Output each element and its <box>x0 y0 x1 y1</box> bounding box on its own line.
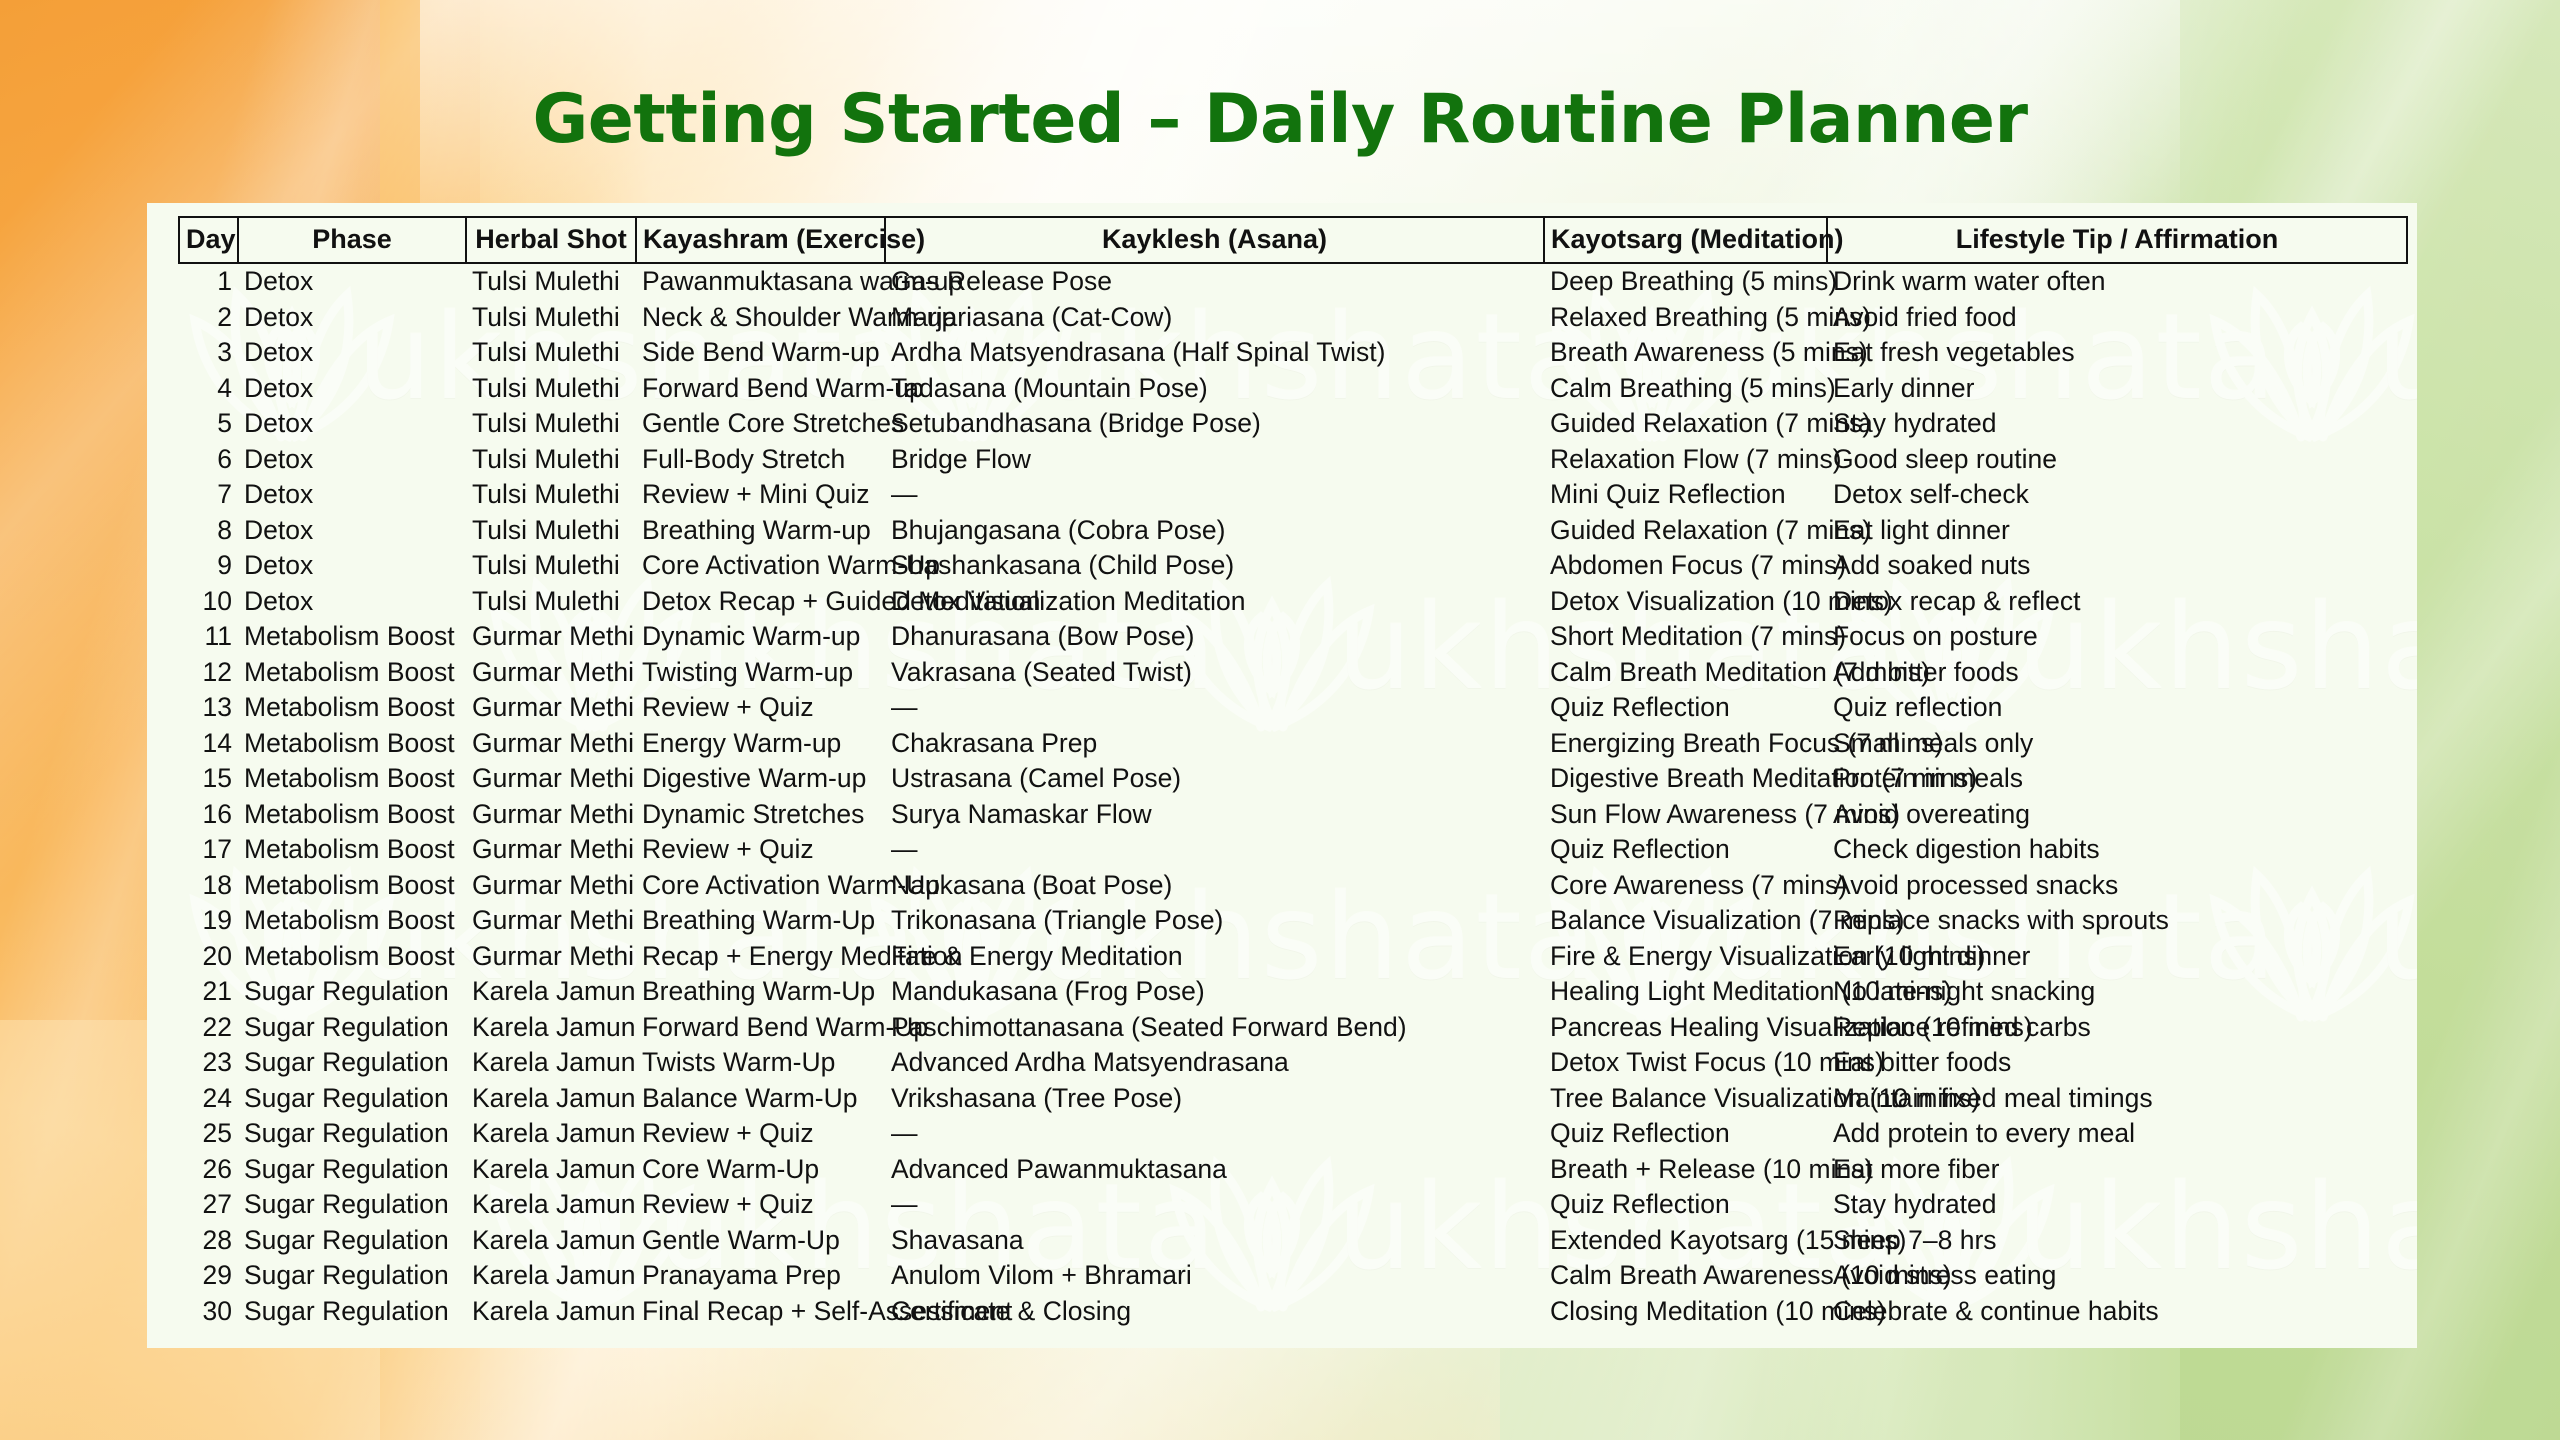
table-row: 8DetoxTulsi MulethiBreathing Warm-upBhuj… <box>179 513 2407 549</box>
cell-kayotsarg: Detox Twist Focus (10 mins) <box>1544 1045 1827 1081</box>
cell-kayashram: Balance Warm-Up <box>636 1081 885 1117</box>
cell-phase: Sugar Regulation <box>238 1223 466 1259</box>
cell-kayklesh: Detox Visualization Meditation <box>885 584 1544 620</box>
cell-kayklesh: Shavasana <box>885 1223 1544 1259</box>
cell-herbal-shot: Gurmar Methi <box>466 832 636 868</box>
cell-kayotsarg: Breath Awareness (5 mins) <box>1544 335 1827 371</box>
table-row: 3DetoxTulsi MulethiSide Bend Warm-upArdh… <box>179 335 2407 371</box>
cell-herbal-shot: Gurmar Methi <box>466 761 636 797</box>
table-row: 25Sugar RegulationKarela JamunReview + Q… <box>179 1116 2407 1152</box>
cell-lifestyle-tip: No late-night snacking <box>1827 974 2407 1010</box>
cell-kayotsarg: Core Awareness (7 mins) <box>1544 868 1827 904</box>
cell-day: 3 <box>179 335 238 371</box>
cell-day: 18 <box>179 868 238 904</box>
table-row: 4DetoxTulsi MulethiForward Bend Warm-upT… <box>179 371 2407 407</box>
slide-canvas: Getting Started – Daily Routine Planner … <box>0 0 2560 1440</box>
cell-kayklesh: Ustrasana (Camel Pose) <box>885 761 1544 797</box>
cell-herbal-shot: Gurmar Methi <box>466 868 636 904</box>
cell-day: 21 <box>179 974 238 1010</box>
cell-lifestyle-tip: Protein in meals <box>1827 761 2407 797</box>
cell-phase: Sugar Regulation <box>238 1010 466 1046</box>
cell-kayashram: Final Recap + Self-Assessment <box>636 1294 885 1330</box>
cell-phase: Detox <box>238 513 466 549</box>
cell-phase: Detox <box>238 406 466 442</box>
cell-herbal-shot: Tulsi Mulethi <box>466 513 636 549</box>
table-row: 22Sugar RegulationKarela JamunForward Be… <box>179 1010 2407 1046</box>
cell-kayashram: Neck & Shoulder Warm-up <box>636 300 885 336</box>
cell-phase: Detox <box>238 263 466 300</box>
cell-kayklesh: Paschimottanasana (Seated Forward Bend) <box>885 1010 1544 1046</box>
table-row: 12Metabolism BoostGurmar MethiTwisting W… <box>179 655 2407 691</box>
cell-kayotsarg: Detox Visualization (10 mins) <box>1544 584 1827 620</box>
cell-kayotsarg: Quiz Reflection <box>1544 1187 1827 1223</box>
cell-herbal-shot: Gurmar Methi <box>466 797 636 833</box>
cell-phase: Detox <box>238 548 466 584</box>
cell-phase: Metabolism Boost <box>238 797 466 833</box>
cell-kayashram: Breathing Warm-Up <box>636 903 885 939</box>
table-row: 11Metabolism BoostGurmar MethiDynamic Wa… <box>179 619 2407 655</box>
cell-day: 2 <box>179 300 238 336</box>
cell-day: 28 <box>179 1223 238 1259</box>
cell-phase: Metabolism Boost <box>238 939 466 975</box>
cell-kayashram: Core Warm-Up <box>636 1152 885 1188</box>
cell-kayotsarg: Short Meditation (7 mins) <box>1544 619 1827 655</box>
cell-kayklesh: Surya Namaskar Flow <box>885 797 1544 833</box>
cell-kayklesh: Naukasana (Boat Pose) <box>885 868 1544 904</box>
column-header-kayashram: Kayashram (Exercise) <box>636 217 885 263</box>
table-row: 16Metabolism BoostGurmar MethiDynamic St… <box>179 797 2407 833</box>
cell-kayashram: Forward Bend Warm-Up <box>636 1010 885 1046</box>
daily-routine-table: Day Phase Herbal Shot Kayashram (Exercis… <box>178 216 2408 1329</box>
cell-kayklesh: Marjariasana (Cat-Cow) <box>885 300 1544 336</box>
cell-kayotsarg: Guided Relaxation (7 mins) <box>1544 406 1827 442</box>
cell-phase: Metabolism Boost <box>238 690 466 726</box>
cell-phase: Metabolism Boost <box>238 655 466 691</box>
cell-herbal-shot: Tulsi Mulethi <box>466 371 636 407</box>
cell-herbal-shot: Gurmar Methi <box>466 939 636 975</box>
column-header-kayklesh: Kayklesh (Asana) <box>885 217 1544 263</box>
table-body: 1DetoxTulsi MulethiPawanmuktasana warm-u… <box>179 263 2407 1329</box>
cell-kayashram: Side Bend Warm-up <box>636 335 885 371</box>
cell-phase: Detox <box>238 300 466 336</box>
cell-kayklesh: Setubandhasana (Bridge Pose) <box>885 406 1544 442</box>
cell-phase: Detox <box>238 335 466 371</box>
cell-kayklesh: — <box>885 832 1544 868</box>
cell-herbal-shot: Gurmar Methi <box>466 655 636 691</box>
column-header-kayotsarg: Kayotsarg (Meditation) <box>1544 217 1827 263</box>
cell-kayotsarg: Pancreas Healing Visualization (10 mins) <box>1544 1010 1827 1046</box>
cell-kayotsarg: Healing Light Meditation (10 mins) <box>1544 974 1827 1010</box>
cell-day: 8 <box>179 513 238 549</box>
cell-herbal-shot: Tulsi Mulethi <box>466 335 636 371</box>
cell-kayashram: Twists Warm-Up <box>636 1045 885 1081</box>
cell-kayotsarg: Quiz Reflection <box>1544 690 1827 726</box>
cell-lifestyle-tip: Eat bitter foods <box>1827 1045 2407 1081</box>
cell-herbal-shot: Karela Jamun <box>466 1258 636 1294</box>
cell-kayashram: Core Activation Warm-Up <box>636 548 885 584</box>
cell-herbal-shot: Tulsi Mulethi <box>466 477 636 513</box>
cell-kayklesh: Gas Release Pose <box>885 263 1544 300</box>
cell-phase: Metabolism Boost <box>238 868 466 904</box>
page-title: Getting Started – Daily Routine Planner <box>0 86 2560 154</box>
cell-kayotsarg: Abdomen Focus (7 mins) <box>1544 548 1827 584</box>
cell-lifestyle-tip: Replace refined carbs <box>1827 1010 2407 1046</box>
cell-phase: Detox <box>238 477 466 513</box>
cell-lifestyle-tip: Add protein to every meal <box>1827 1116 2407 1152</box>
cell-day: 25 <box>179 1116 238 1152</box>
cell-kayotsarg: Deep Breathing (5 mins) <box>1544 263 1827 300</box>
cell-herbal-shot: Karela Jamun <box>466 1010 636 1046</box>
cell-phase: Metabolism Boost <box>238 761 466 797</box>
table-header: Day Phase Herbal Shot Kayashram (Exercis… <box>179 217 2407 263</box>
cell-kayklesh: Vrikshasana (Tree Pose) <box>885 1081 1544 1117</box>
cell-lifestyle-tip: Add bitter foods <box>1827 655 2407 691</box>
cell-kayklesh: Advanced Ardha Matsyendrasana <box>885 1045 1544 1081</box>
cell-day: 6 <box>179 442 238 478</box>
cell-lifestyle-tip: Maintain fixed meal timings <box>1827 1081 2407 1117</box>
cell-phase: Sugar Regulation <box>238 1045 466 1081</box>
cell-kayashram: Core Activation Warm-Up <box>636 868 885 904</box>
cell-kayotsarg: Fire & Energy Visualization (10 mins) <box>1544 939 1827 975</box>
content-panel: ukhshataukhshataukhshataukhshataukhshata… <box>147 203 2417 1348</box>
cell-kayklesh: — <box>885 690 1544 726</box>
cell-kayashram: Energy Warm-up <box>636 726 885 762</box>
cell-lifestyle-tip: Avoid overeating <box>1827 797 2407 833</box>
cell-day: 9 <box>179 548 238 584</box>
cell-phase: Metabolism Boost <box>238 903 466 939</box>
cell-kayklesh: — <box>885 1187 1544 1223</box>
cell-kayashram: Forward Bend Warm-up <box>636 371 885 407</box>
cell-kayashram: Review + Quiz <box>636 690 885 726</box>
cell-lifestyle-tip: Stay hydrated <box>1827 1187 2407 1223</box>
table-row: 1DetoxTulsi MulethiPawanmuktasana warm-u… <box>179 263 2407 300</box>
cell-lifestyle-tip: Drink warm water often <box>1827 263 2407 300</box>
column-header-day: Day <box>179 217 238 263</box>
table-row: 9DetoxTulsi MulethiCore Activation Warm-… <box>179 548 2407 584</box>
cell-phase: Metabolism Boost <box>238 726 466 762</box>
cell-lifestyle-tip: Quiz reflection <box>1827 690 2407 726</box>
table-row: 26Sugar RegulationKarela JamunCore Warm-… <box>179 1152 2407 1188</box>
cell-herbal-shot: Gurmar Methi <box>466 903 636 939</box>
cell-herbal-shot: Tulsi Mulethi <box>466 442 636 478</box>
cell-day: 7 <box>179 477 238 513</box>
cell-lifestyle-tip: Eat more fiber <box>1827 1152 2407 1188</box>
cell-kayashram: Twisting Warm-up <box>636 655 885 691</box>
cell-phase: Sugar Regulation <box>238 1081 466 1117</box>
cell-herbal-shot: Tulsi Mulethi <box>466 300 636 336</box>
cell-day: 12 <box>179 655 238 691</box>
cell-phase: Sugar Regulation <box>238 1187 466 1223</box>
cell-kayashram: Review + Quiz <box>636 1116 885 1152</box>
cell-lifestyle-tip: Stay hydrated <box>1827 406 2407 442</box>
cell-kayotsarg: Relaxation Flow (7 mins) <box>1544 442 1827 478</box>
cell-phase: Sugar Regulation <box>238 1258 466 1294</box>
cell-phase: Sugar Regulation <box>238 1152 466 1188</box>
cell-day: 4 <box>179 371 238 407</box>
cell-kayashram: Gentle Core Stretches <box>636 406 885 442</box>
cell-kayashram: Gentle Warm-Up <box>636 1223 885 1259</box>
table-row: 24Sugar RegulationKarela JamunBalance Wa… <box>179 1081 2407 1117</box>
cell-phase: Detox <box>238 371 466 407</box>
cell-kayotsarg: Mini Quiz Reflection <box>1544 477 1827 513</box>
cell-day: 5 <box>179 406 238 442</box>
cell-day: 15 <box>179 761 238 797</box>
cell-kayotsarg: Relaxed Breathing (5 mins) <box>1544 300 1827 336</box>
cell-day: 24 <box>179 1081 238 1117</box>
cell-lifestyle-tip: Avoid stress eating <box>1827 1258 2407 1294</box>
column-header-phase: Phase <box>238 217 466 263</box>
table-header-row: Day Phase Herbal Shot Kayashram (Exercis… <box>179 217 2407 263</box>
cell-kayotsarg: Guided Relaxation (7 mins) <box>1544 513 1827 549</box>
cell-phase: Sugar Regulation <box>238 1294 466 1330</box>
cell-day: 10 <box>179 584 238 620</box>
cell-kayotsarg: Breath + Release (10 mins) <box>1544 1152 1827 1188</box>
cell-herbal-shot: Gurmar Methi <box>466 726 636 762</box>
cell-lifestyle-tip: Celebrate & continue habits <box>1827 1294 2407 1330</box>
cell-kayotsarg: Energizing Breath Focus (7 mins) <box>1544 726 1827 762</box>
table-row: 30Sugar RegulationKarela JamunFinal Reca… <box>179 1294 2407 1330</box>
cell-kayashram: Full-Body Stretch <box>636 442 885 478</box>
cell-kayotsarg: Quiz Reflection <box>1544 832 1827 868</box>
table-row: 21Sugar RegulationKarela JamunBreathing … <box>179 974 2407 1010</box>
cell-kayashram: Breathing Warm-Up <box>636 974 885 1010</box>
cell-herbal-shot: Gurmar Methi <box>466 690 636 726</box>
cell-kayklesh: Chakrasana Prep <box>885 726 1544 762</box>
table-row: 18Metabolism BoostGurmar MethiCore Activ… <box>179 868 2407 904</box>
cell-kayashram: Review + Quiz <box>636 832 885 868</box>
watermark-lotus-icon <box>857 1333 1087 1348</box>
table-row: 23Sugar RegulationKarela JamunTwists War… <box>179 1045 2407 1081</box>
cell-lifestyle-tip: Early dinner <box>1827 371 2407 407</box>
cell-herbal-shot: Tulsi Mulethi <box>466 406 636 442</box>
cell-lifestyle-tip: Focus on posture <box>1827 619 2407 655</box>
table-row: 13Metabolism BoostGurmar MethiReview + Q… <box>179 690 2407 726</box>
cell-day: 27 <box>179 1187 238 1223</box>
cell-herbal-shot: Karela Jamun <box>466 1152 636 1188</box>
cell-lifestyle-tip: Good sleep routine <box>1827 442 2407 478</box>
cell-lifestyle-tip: Eat light dinner <box>1827 513 2407 549</box>
cell-kayotsarg: Quiz Reflection <box>1544 1116 1827 1152</box>
column-header-lifestyle-tip: Lifestyle Tip / Affirmation <box>1827 217 2407 263</box>
cell-herbal-shot: Tulsi Mulethi <box>466 263 636 300</box>
cell-day: 19 <box>179 903 238 939</box>
cell-lifestyle-tip: Detox recap & reflect <box>1827 584 2407 620</box>
cell-kayashram: Dynamic Warm-up <box>636 619 885 655</box>
cell-kayklesh: Advanced Pawanmuktasana <box>885 1152 1544 1188</box>
cell-kayashram: Pranayama Prep <box>636 1258 885 1294</box>
cell-herbal-shot: Karela Jamun <box>466 1294 636 1330</box>
cell-phase: Metabolism Boost <box>238 619 466 655</box>
cell-kayotsarg: Balance Visualization (7 mins) <box>1544 903 1827 939</box>
cell-kayotsarg: Calm Breathing (5 mins) <box>1544 371 1827 407</box>
cell-herbal-shot: Karela Jamun <box>466 1187 636 1223</box>
cell-day: 23 <box>179 1045 238 1081</box>
cell-lifestyle-tip: Replace snacks with sprouts <box>1827 903 2407 939</box>
watermark-lotus-icon <box>177 1333 407 1348</box>
cell-lifestyle-tip: Avoid processed snacks <box>1827 868 2407 904</box>
cell-day: 20 <box>179 939 238 975</box>
table-row: 27Sugar RegulationKarela JamunReview + Q… <box>179 1187 2407 1223</box>
cell-herbal-shot: Tulsi Mulethi <box>466 584 636 620</box>
cell-lifestyle-tip: Check digestion habits <box>1827 832 2407 868</box>
cell-day: 30 <box>179 1294 238 1330</box>
cell-herbal-shot: Karela Jamun <box>466 974 636 1010</box>
cell-kayklesh: Shashankasana (Child Pose) <box>885 548 1544 584</box>
cell-kayashram: Breathing Warm-up <box>636 513 885 549</box>
cell-kayklesh: Bhujangasana (Cobra Pose) <box>885 513 1544 549</box>
cell-kayotsarg: Calm Breath Meditation (7 mins) <box>1544 655 1827 691</box>
cell-kayashram: Recap + Energy Meditation <box>636 939 885 975</box>
table-row: 19Metabolism BoostGurmar MethiBreathing … <box>179 903 2407 939</box>
table-row: 29Sugar RegulationKarela JamunPranayama … <box>179 1258 2407 1294</box>
table-row: 17Metabolism BoostGurmar MethiReview + Q… <box>179 832 2407 868</box>
watermark-lotus-icon <box>2197 1333 2417 1348</box>
cell-day: 13 <box>179 690 238 726</box>
cell-day: 14 <box>179 726 238 762</box>
cell-kayklesh: Bridge Flow <box>885 442 1544 478</box>
cell-kayashram: Detox Recap + Guided Meditation <box>636 584 885 620</box>
table-row: 2DetoxTulsi MulethiNeck & Shoulder Warm-… <box>179 300 2407 336</box>
cell-kayashram: Dynamic Stretches <box>636 797 885 833</box>
cell-kayotsarg: Closing Meditation (10 mins) <box>1544 1294 1827 1330</box>
cell-day: 16 <box>179 797 238 833</box>
cell-kayklesh: Fire & Energy Meditation <box>885 939 1544 975</box>
cell-phase: Detox <box>238 584 466 620</box>
cell-kayashram: Review + Quiz <box>636 1187 885 1223</box>
cell-herbal-shot: Tulsi Mulethi <box>466 548 636 584</box>
table-row: 20Metabolism BoostGurmar MethiRecap + En… <box>179 939 2407 975</box>
cell-day: 22 <box>179 1010 238 1046</box>
cell-phase: Metabolism Boost <box>238 832 466 868</box>
cell-kayklesh: Tadasana (Mountain Pose) <box>885 371 1544 407</box>
table-row: 15Metabolism BoostGurmar MethiDigestive … <box>179 761 2407 797</box>
cell-herbal-shot: Karela Jamun <box>466 1116 636 1152</box>
cell-kayklesh: Vakrasana (Seated Twist) <box>885 655 1544 691</box>
table-row: 7DetoxTulsi MulethiReview + Mini Quiz—Mi… <box>179 477 2407 513</box>
cell-phase: Sugar Regulation <box>238 1116 466 1152</box>
cell-lifestyle-tip: Sleep 7–8 hrs <box>1827 1223 2407 1259</box>
cell-kayklesh: — <box>885 477 1544 513</box>
cell-kayklesh: Dhanurasana (Bow Pose) <box>885 619 1544 655</box>
cell-kayotsarg: Calm Breath Awareness (10 mins) <box>1544 1258 1827 1294</box>
cell-kayotsarg: Digestive Breath Meditation (7 mins) <box>1544 761 1827 797</box>
cell-kayotsarg: Tree Balance Visualization (10 mins) <box>1544 1081 1827 1117</box>
table-row: 28Sugar RegulationKarela JamunGentle War… <box>179 1223 2407 1259</box>
cell-lifestyle-tip: Small meals only <box>1827 726 2407 762</box>
cell-lifestyle-tip: Eat fresh vegetables <box>1827 335 2407 371</box>
cell-day: 17 <box>179 832 238 868</box>
cell-herbal-shot: Karela Jamun <box>466 1223 636 1259</box>
watermark-lotus-icon <box>1537 1333 1767 1348</box>
cell-kayashram: Review + Mini Quiz <box>636 477 885 513</box>
cell-kayotsarg: Extended Kayotsarg (15 mins) <box>1544 1223 1827 1259</box>
cell-lifestyle-tip: Add soaked nuts <box>1827 548 2407 584</box>
cell-kayklesh: Trikonasana (Triangle Pose) <box>885 903 1544 939</box>
table-row: 14Metabolism BoostGurmar MethiEnergy War… <box>179 726 2407 762</box>
cell-phase: Sugar Regulation <box>238 974 466 1010</box>
cell-kayashram: Pawanmuktasana warm-up <box>636 263 885 300</box>
cell-herbal-shot: Karela Jamun <box>466 1045 636 1081</box>
cell-day: 11 <box>179 619 238 655</box>
table-row: 6DetoxTulsi MulethiFull-Body StretchBrid… <box>179 442 2407 478</box>
cell-herbal-shot: Gurmar Methi <box>466 619 636 655</box>
cell-lifestyle-tip: Detox self-check <box>1827 477 2407 513</box>
cell-kayotsarg: Sun Flow Awareness (7 mins) <box>1544 797 1827 833</box>
cell-herbal-shot: Karela Jamun <box>466 1081 636 1117</box>
cell-lifestyle-tip: Early light dinner <box>1827 939 2407 975</box>
cell-kayashram: Digestive Warm-up <box>636 761 885 797</box>
cell-kayklesh: Certificate & Closing <box>885 1294 1544 1330</box>
column-header-herbal-shot: Herbal Shot <box>466 217 636 263</box>
cell-lifestyle-tip: Avoid fried food <box>1827 300 2407 336</box>
cell-kayklesh: Mandukasana (Frog Pose) <box>885 974 1544 1010</box>
cell-kayklesh: Ardha Matsyendrasana (Half Spinal Twist) <box>885 335 1544 371</box>
table-row: 5DetoxTulsi MulethiGentle Core Stretches… <box>179 406 2407 442</box>
cell-day: 26 <box>179 1152 238 1188</box>
cell-phase: Detox <box>238 442 466 478</box>
table-row: 10DetoxTulsi MulethiDetox Recap + Guided… <box>179 584 2407 620</box>
cell-kayklesh: — <box>885 1116 1544 1152</box>
cell-day: 1 <box>179 263 238 300</box>
cell-day: 29 <box>179 1258 238 1294</box>
cell-kayklesh: Anulom Vilom + Bhramari <box>885 1258 1544 1294</box>
